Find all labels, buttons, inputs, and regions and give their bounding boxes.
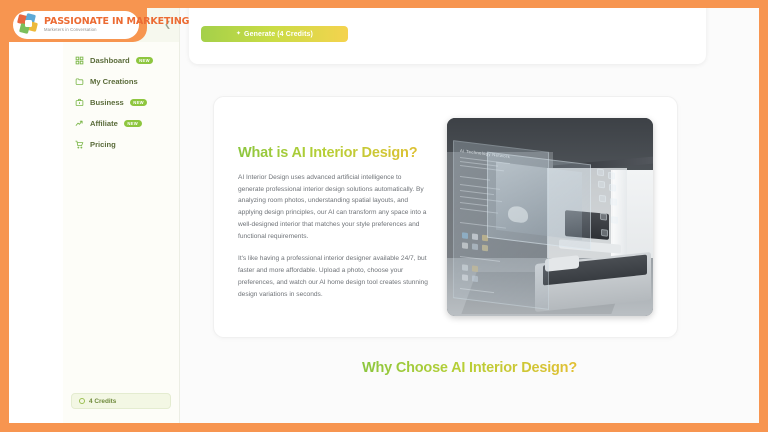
credits-label: 4 Credits [89, 398, 116, 405]
sidebar-nav: Dashboard NEW My Creations [63, 42, 179, 155]
pinwheel-logo-icon [18, 14, 40, 36]
credits-badge[interactable]: 4 Credits [71, 393, 171, 409]
sidebar: Dehome ❮ Dashboard NEW [63, 8, 180, 423]
why-section-heading: Why Choose AI Interior Design? [362, 360, 577, 376]
info-media-column: AI Technology Network [447, 119, 653, 315]
folder-icon [75, 77, 84, 86]
sidebar-item-label: Pricing [90, 140, 116, 149]
holographic-screen [487, 152, 591, 251]
info-text-column: What is AI Interior Design? AI Interior … [238, 119, 429, 315]
watermark-banner: PASSIONATE IN MARKETING Marketers in Con… [9, 8, 147, 42]
ai-interior-render-image: AI Technology Network [447, 118, 653, 316]
why-section-heading-wrap: Why Choose AI Interior Design? [180, 360, 759, 376]
screenshot-frame: ✦ Generate (4 Credits) What is AI Interi… [0, 0, 768, 432]
generate-button-label: Generate (4 Credits) [244, 31, 313, 38]
watermark-tagline: Marketers in Conversation [44, 28, 189, 32]
sidebar-item-label: Dashboard [90, 56, 130, 65]
sidebar-item-label: My Creations [90, 77, 138, 86]
holographic-screen-inner [496, 162, 582, 241]
main-content: ✦ Generate (4 Credits) What is AI Interi… [180, 8, 759, 423]
generator-card: ✦ Generate (4 Credits) [189, 8, 706, 64]
new-badge: NEW [130, 99, 148, 106]
cart-icon [75, 140, 84, 149]
sparkle-icon: ✦ [236, 31, 241, 37]
app-page: ✦ Generate (4 Credits) What is AI Interi… [9, 8, 759, 423]
coin-icon [79, 398, 85, 404]
info-paragraph-2: It's like having a professional interior… [238, 253, 429, 300]
info-card: What is AI Interior Design? AI Interior … [213, 96, 678, 338]
new-badge: NEW [124, 120, 142, 127]
briefcase-icon [75, 98, 84, 107]
sidebar-item-label: Business [90, 98, 124, 107]
sidebar-item-dashboard[interactable]: Dashboard NEW [63, 50, 179, 71]
sidebar-item-label: Affiliate [90, 119, 118, 128]
credits-section: 4 Credits [63, 393, 179, 423]
sidebar-item-my-creations[interactable]: My Creations [63, 71, 179, 92]
sidebar-item-business[interactable]: Business NEW [63, 92, 179, 113]
new-badge: NEW [136, 57, 154, 64]
grid-icon [75, 56, 84, 65]
watermark-card: PASSIONATE IN MARKETING Marketers in Con… [13, 11, 139, 39]
sidebar-item-pricing[interactable]: Pricing [63, 134, 179, 155]
trending-up-icon [75, 119, 84, 128]
watermark-text: PASSIONATE IN MARKETING Marketers in Con… [44, 17, 189, 32]
info-paragraph-1: AI Interior Design uses advanced artific… [238, 172, 429, 242]
holographic-side-controls [597, 168, 623, 245]
watermark-title: PASSIONATE IN MARKETING [44, 17, 189, 27]
info-heading: What is AI Interior Design? [238, 145, 429, 161]
generate-button[interactable]: ✦ Generate (4 Credits) [201, 26, 348, 42]
sidebar-item-affiliate[interactable]: Affiliate NEW [63, 113, 179, 134]
